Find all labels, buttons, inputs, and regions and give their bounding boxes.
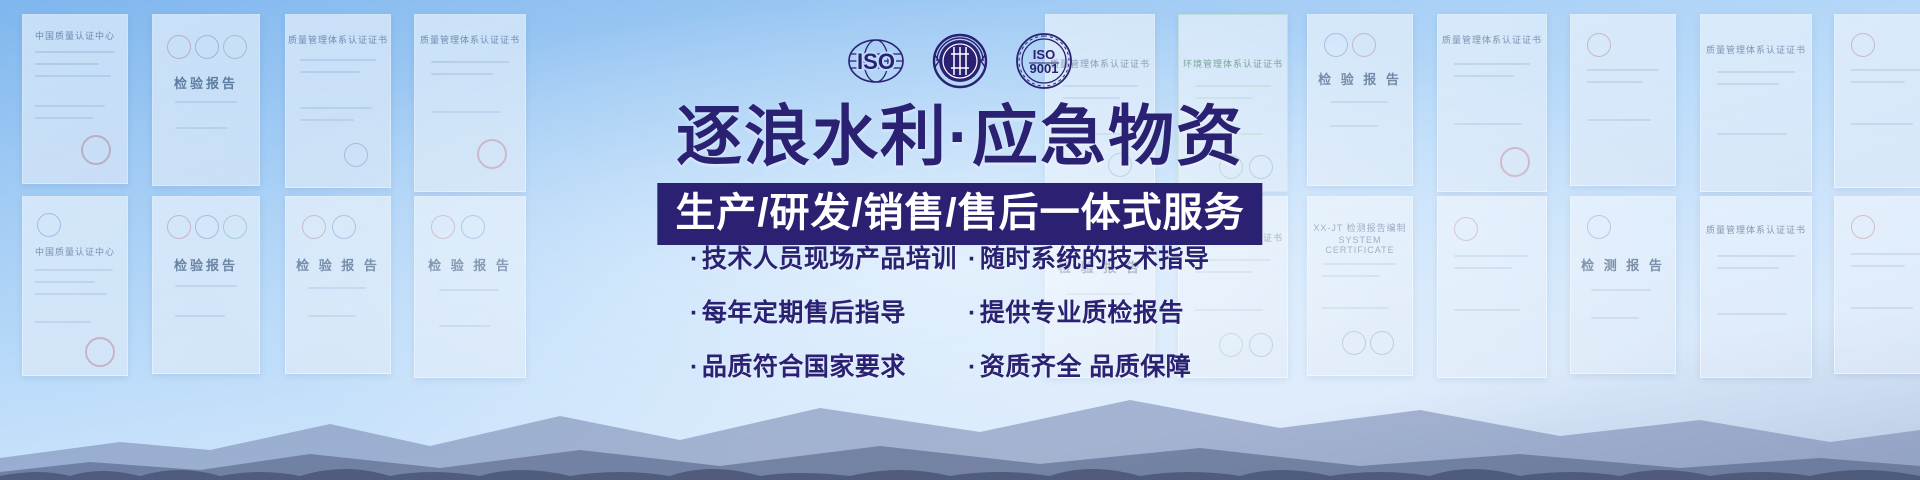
svg-text:ISO: ISO	[857, 49, 895, 74]
page-title: 逐浪水利·应急物资	[0, 98, 1920, 174]
bullet-marker: ·	[690, 245, 699, 273]
iso9001-badge: ISO 9001	[1013, 30, 1075, 92]
feature-label: 随时系统的技术指导	[980, 245, 1210, 273]
feature-item: ·每年定期售后指导	[690, 298, 968, 328]
bullet-marker: ·	[968, 299, 977, 327]
service-subtitle-bar: 生产/研发/销售/售后一体式服务	[657, 183, 1262, 245]
feature-item: ·提供专业质检报告	[968, 298, 1230, 328]
feature-item: ·技术人员现场产品培训	[690, 244, 968, 274]
iso-globe-icon: ISO	[845, 30, 907, 92]
certification-badges: ISO ISO	[845, 30, 1075, 92]
bullet-marker: ·	[968, 353, 977, 381]
bullet-marker: ·	[690, 353, 699, 381]
feature-label: 技术人员现场产品培训	[702, 245, 957, 273]
quality-seal-badge	[929, 30, 991, 92]
feature-label: 资质齐全 品质保障	[980, 353, 1191, 381]
svg-text:ISO: ISO	[1033, 47, 1055, 62]
feature-label: 品质符合国家要求	[702, 353, 906, 381]
feature-label: 每年定期售后指导	[702, 299, 906, 327]
feature-item: ·资质齐全 品质保障	[968, 352, 1230, 382]
feature-item: ·随时系统的技术指导	[968, 244, 1230, 274]
feature-list: ·技术人员现场产品培训 ·随时系统的技术指导 ·每年定期售后指导 ·提供专业质检…	[690, 244, 1230, 382]
feature-item: ·品质符合国家要求	[690, 352, 968, 382]
quality-seal-icon	[929, 30, 991, 92]
iso-badge: ISO	[845, 30, 907, 92]
feature-label: 提供专业质检报告	[980, 299, 1184, 327]
bullet-marker: ·	[690, 299, 699, 327]
banner-content: ISO ISO	[0, 0, 1920, 480]
iso9001-seal-icon: ISO 9001	[1013, 30, 1075, 92]
bullet-marker: ·	[968, 245, 977, 273]
promotional-banner: 中国质量认证中心 检验报告 质量管理体系认证证书 质量管理体系认证证书	[0, 0, 1920, 480]
